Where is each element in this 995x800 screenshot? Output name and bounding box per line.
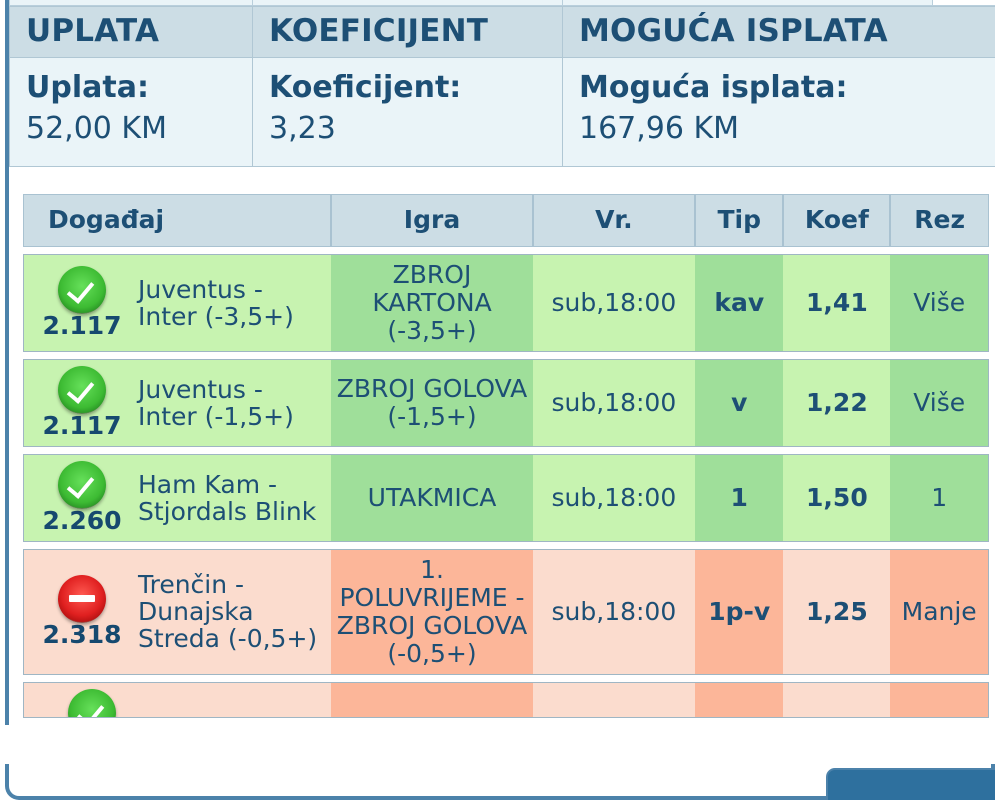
- partial-cell-3: [563, 0, 933, 6]
- slip-container: UPLATA KOEFICIJENT MOGUĆA ISPLATA Uplata…: [5, 0, 995, 725]
- partial-cell-2: [253, 0, 563, 6]
- bet-event-cell: 2.117 Juventus - Inter (-1,5+): [23, 359, 331, 447]
- check-circle-icon: [68, 689, 116, 718]
- bet-koef: 1,22: [783, 359, 890, 447]
- bet-igra: 1. POLUVRIJEME - ZBROJ GOLOVA (-0,5+): [331, 549, 532, 675]
- bet-event-name: Trenčin - Dunajska Streda (-0,5+): [138, 571, 329, 652]
- bet-event-cell-partial: [23, 682, 331, 718]
- column-header-vr: Vr.: [533, 194, 695, 247]
- bet-time: sub,18:00: [533, 254, 695, 352]
- table-row[interactable]: 2.117 Juventus - Inter (-3,5+) ZBROJ KAR…: [23, 254, 989, 352]
- bet-tip-partial: [695, 682, 783, 718]
- bet-rez: Više: [890, 254, 989, 352]
- bet-id: 2.117: [42, 412, 121, 440]
- moguca-isplata-label: Moguća isplata:: [579, 68, 995, 109]
- table-row[interactable]: 2.117 Juventus - Inter (-1,5+) ZBROJ GOL…: [23, 359, 989, 447]
- bet-tip: 1p-v: [695, 549, 783, 675]
- bet-igra: UTAKMICA: [331, 454, 532, 542]
- bet-tip: kav: [695, 254, 783, 352]
- bet-event-name: Juventus - Inter (-3,5+): [138, 276, 329, 330]
- moguca-isplata-value: 167,96 KM: [579, 109, 995, 148]
- bet-id: 2.117: [42, 312, 121, 340]
- column-header-rez: Rez: [890, 194, 989, 247]
- bet-koef: 1,50: [783, 454, 890, 542]
- uplata-label: Uplata:: [26, 68, 252, 109]
- summary-header-uplata: UPLATA: [10, 7, 253, 58]
- summary-partial-row: [10, 0, 995, 6]
- bet-time-partial: [533, 682, 695, 718]
- summary-value-row: Uplata: 52,00 KM Koeficijent: 3,23 Moguć…: [10, 58, 995, 167]
- bet-time: sub,18:00: [533, 359, 695, 447]
- summary-cell-uplata: Uplata: 52,00 KM: [10, 58, 253, 167]
- column-header-igra: Igra: [331, 194, 532, 247]
- bet-event-cell: 2.117 Juventus - Inter (-3,5+): [23, 254, 331, 352]
- bet-id: 2.260: [42, 507, 121, 535]
- summary-header-koeficijent: KOEFICIJENT: [253, 7, 563, 58]
- bet-time: sub,18:00: [533, 454, 695, 542]
- bet-tip: v: [695, 359, 783, 447]
- betslip-screen: UPLATA KOEFICIJENT MOGUĆA ISPLATA Uplata…: [0, 0, 995, 800]
- table-row[interactable]: 2.318 Trenčin - Dunajska Streda (-0,5+) …: [23, 549, 989, 675]
- check-circle-icon: [58, 461, 106, 509]
- bet-igra-partial: [331, 682, 532, 718]
- bet-rez: Više: [890, 359, 989, 447]
- table-row[interactable]: 2.260 Ham Kam - Stjordals Blink UTAKMICA…: [23, 454, 989, 542]
- partial-cell-4: [933, 0, 995, 6]
- summary-cell-koeficijent: Koeficijent: 3,23: [253, 58, 563, 167]
- no-entry-icon: [58, 575, 106, 623]
- column-header-tip: Tip: [695, 194, 783, 247]
- summary-header-moguca-isplata: MOGUĆA ISPLATA: [563, 7, 995, 58]
- section-divider: [9, 167, 995, 187]
- bet-koef: 1,25: [783, 549, 890, 675]
- summary-cell-moguca-isplata: Moguća isplata: 167,96 KM: [563, 58, 995, 167]
- bet-list-header-row: Događaj Igra Vr. Tip Koef Rez: [23, 194, 989, 247]
- table-row[interactable]: [23, 682, 989, 718]
- bet-id: 2.318: [42, 621, 121, 649]
- summary-section: UPLATA KOEFICIJENT MOGUĆA ISPLATA Uplata…: [9, 0, 995, 167]
- koeficijent-label: Koeficijent:: [269, 68, 562, 109]
- bet-list-section: Događaj Igra Vr. Tip Koef Rez: [9, 187, 995, 725]
- summary-totals-table: UPLATA KOEFICIJENT MOGUĆA ISPLATA Uplata…: [9, 6, 995, 167]
- bet-rez: 1: [890, 454, 989, 542]
- uplata-value: 52,00 KM: [26, 109, 252, 148]
- column-header-koef: Koef: [783, 194, 890, 247]
- bet-event-name: Juventus - Inter (-1,5+): [138, 376, 329, 430]
- bet-koef-partial: [783, 682, 890, 718]
- bet-rez: Manje: [890, 549, 989, 675]
- partial-cell-1: [10, 0, 253, 6]
- bet-event-cell: 2.318 Trenčin - Dunajska Streda (-0,5+): [23, 549, 331, 675]
- bet-list-table: Događaj Igra Vr. Tip Koef Rez: [23, 187, 989, 725]
- bet-event-cell: 2.260 Ham Kam - Stjordals Blink: [23, 454, 331, 542]
- primary-action-button[interactable]: [826, 768, 995, 800]
- bet-koef: 1,41: [783, 254, 890, 352]
- bet-time: sub,18:00: [533, 549, 695, 675]
- bet-igra: ZBROJ GOLOVA (-1,5+): [331, 359, 532, 447]
- bet-igra: ZBROJ KARTONA (-3,5+): [331, 254, 532, 352]
- bet-tip: 1: [695, 454, 783, 542]
- column-header-dogadaj: Događaj: [23, 194, 331, 247]
- bet-rez-partial: [890, 682, 989, 718]
- bet-event-name: Ham Kam - Stjordals Blink: [138, 471, 329, 525]
- koeficijent-value: 3,23: [269, 109, 562, 148]
- summary-header-row: UPLATA KOEFICIJENT MOGUĆA ISPLATA: [10, 7, 995, 58]
- check-circle-icon: [58, 266, 106, 314]
- check-circle-icon: [58, 366, 106, 414]
